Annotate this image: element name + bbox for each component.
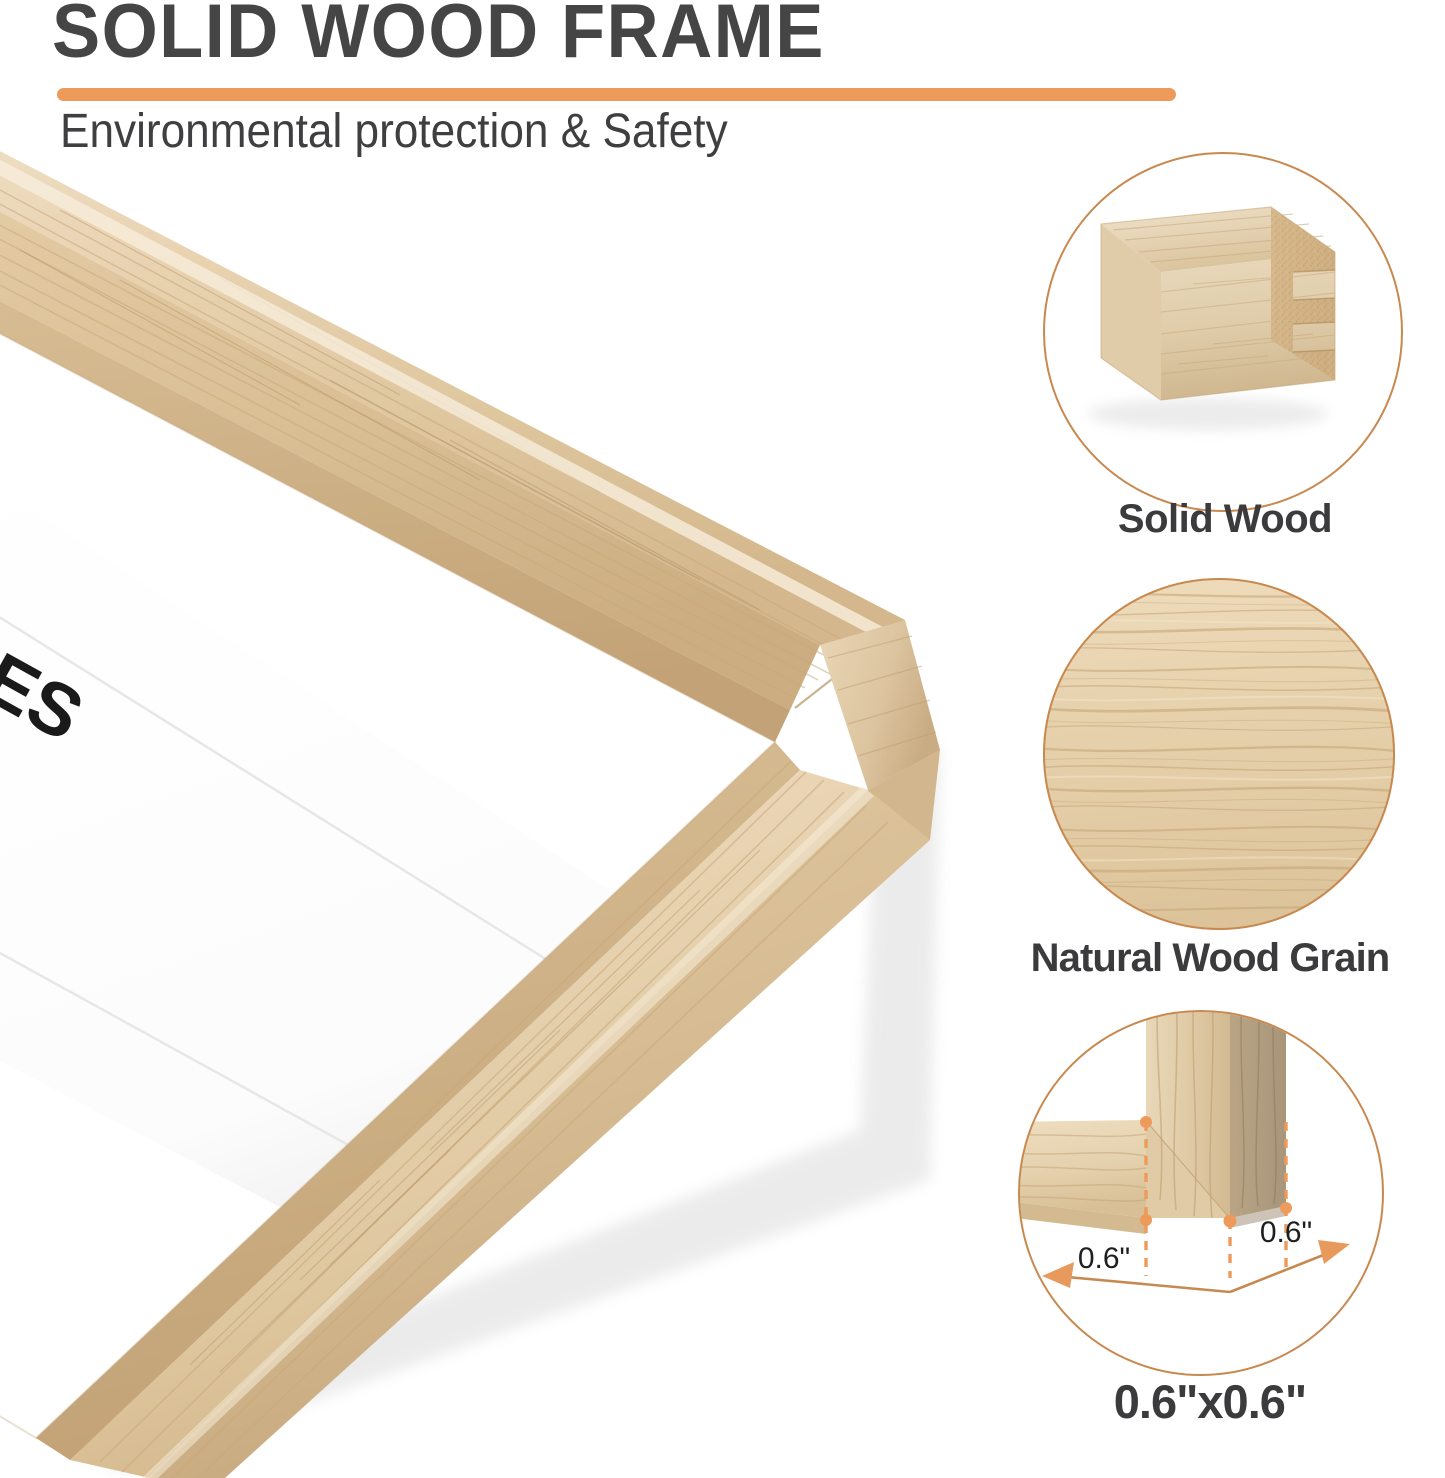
- frame-corner-photo: ES: [0, 150, 1000, 1478]
- title-underline-rule: [57, 88, 1176, 101]
- product-feature-image: SOLID WOOD FRAME Environmental protectio…: [0, 0, 1445, 1478]
- frame-dimensions-label: 0.6"x0.6": [1010, 1378, 1410, 1425]
- natural-wood-grain-circle-outline: [1043, 578, 1395, 930]
- page-title: SOLID WOOD FRAME: [52, 0, 825, 70]
- frame-dimensions-circle-outline: [1018, 1010, 1384, 1376]
- header-block: SOLID WOOD FRAME Environmental protectio…: [0, 0, 1050, 160]
- natural-wood-grain-label: Natural Wood Grain: [960, 938, 1445, 978]
- solid-wood-label: Solid Wood: [1020, 499, 1430, 539]
- wood-profile-3d-icon: [1043, 152, 1403, 512]
